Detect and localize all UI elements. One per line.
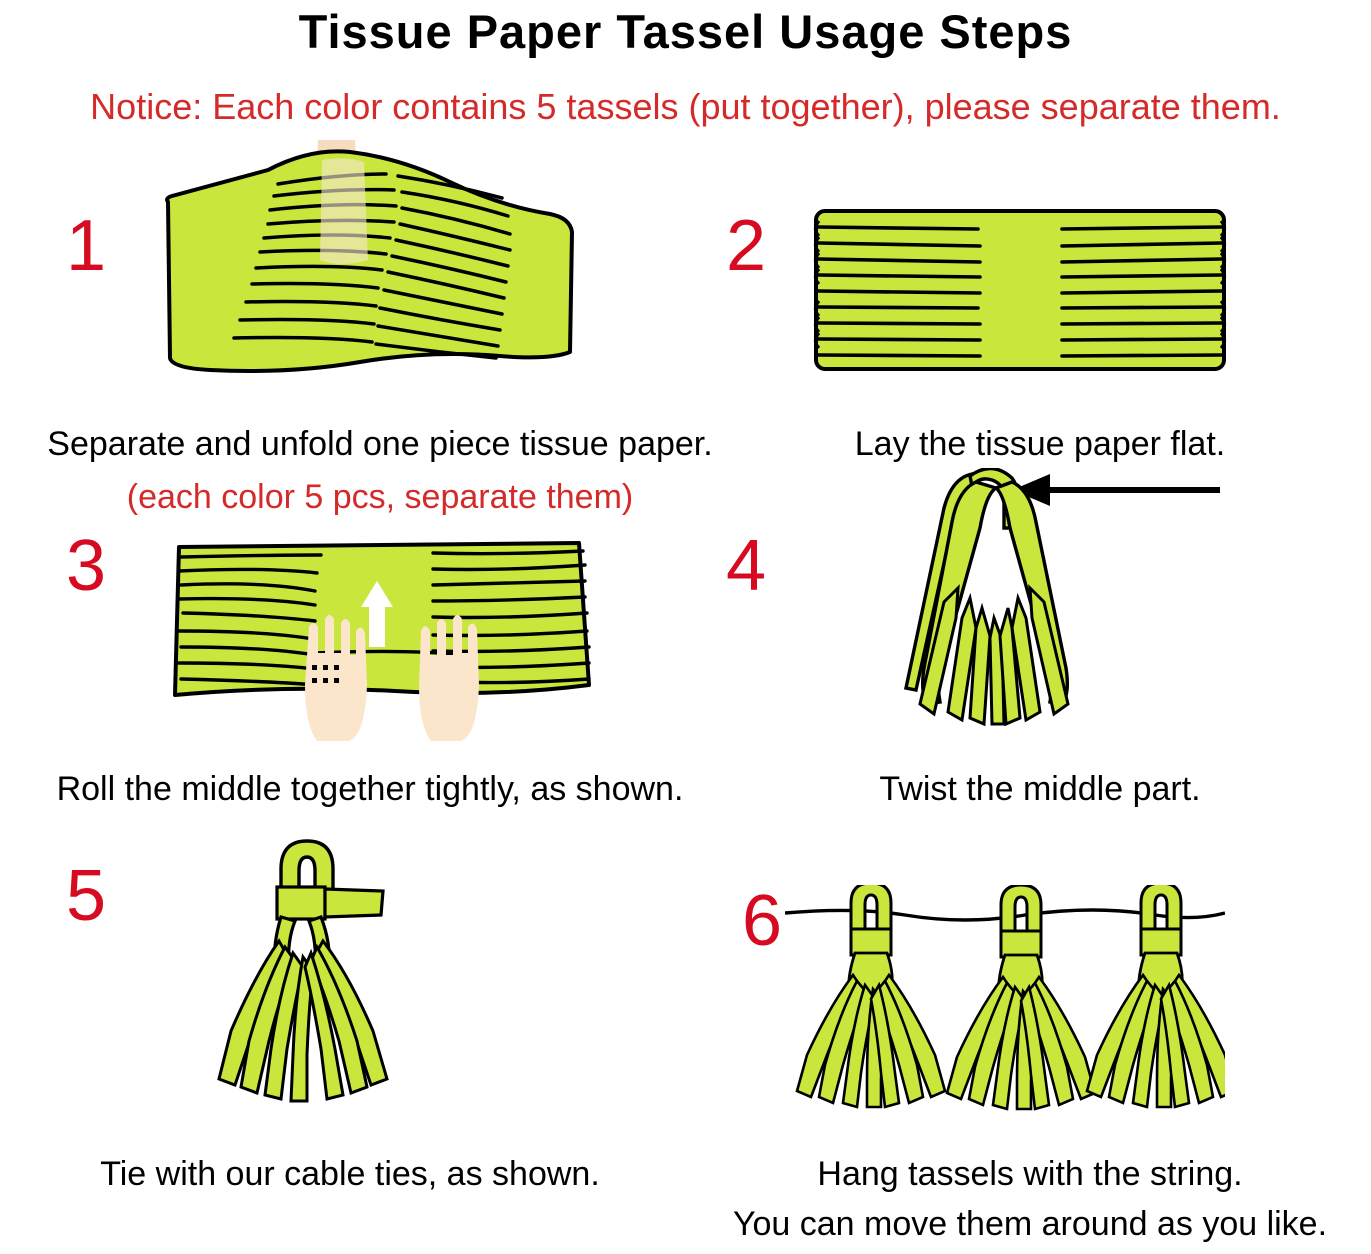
tassel-strands <box>219 941 387 1101</box>
hand-showthrough <box>320 158 368 264</box>
tissue-paper-shape <box>167 151 572 371</box>
notice-text: Notice: Each color contains 5 tassels (p… <box>0 86 1371 128</box>
cable-tie <box>1141 929 1181 955</box>
step-5-illustration <box>215 835 475 1125</box>
step-6-illustration <box>785 885 1225 1120</box>
step-number-3: 3 <box>66 530 106 602</box>
tassel-strands <box>1087 975 1225 1107</box>
step-caption-2: Lay the tissue paper flat. <box>740 425 1340 464</box>
step-caption-6-sub: You can move them around as you like. <box>700 1205 1360 1244</box>
step-caption-3: Roll the middle together tightly, as sho… <box>0 770 740 809</box>
cable-tie <box>277 887 383 919</box>
cable-tie <box>851 929 891 955</box>
cable-tie <box>1001 931 1041 957</box>
step-caption-6: Hang tassels with the string. <box>700 1155 1360 1194</box>
step-3-illustration <box>165 535 595 755</box>
tassel-strands <box>920 588 1068 724</box>
step-number-1: 1 <box>66 210 106 282</box>
left-arrow-icon <box>1012 474 1220 506</box>
page-title: Tissue Paper Tassel Usage Steps <box>0 4 1371 59</box>
tassel-strands <box>797 975 945 1107</box>
step-caption-5: Tie with our cable ties, as shown. <box>0 1155 700 1194</box>
step-caption-1: Separate and unfold one piece tissue pap… <box>0 425 760 464</box>
step-number-2: 2 <box>726 210 766 282</box>
step-caption-1-sub: (each color 5 pcs, separate them) <box>0 478 760 517</box>
tassel-strands <box>947 977 1095 1109</box>
step-4-illustration <box>900 468 1230 748</box>
step-number-5: 5 <box>66 860 106 932</box>
step-1-illustration <box>150 140 580 400</box>
step-number-4: 4 <box>726 530 766 602</box>
step-2-illustration <box>810 205 1230 375</box>
step-number-6: 6 <box>742 885 782 957</box>
step-caption-4: Twist the middle part. <box>740 770 1340 809</box>
tassel-loop <box>281 841 333 891</box>
